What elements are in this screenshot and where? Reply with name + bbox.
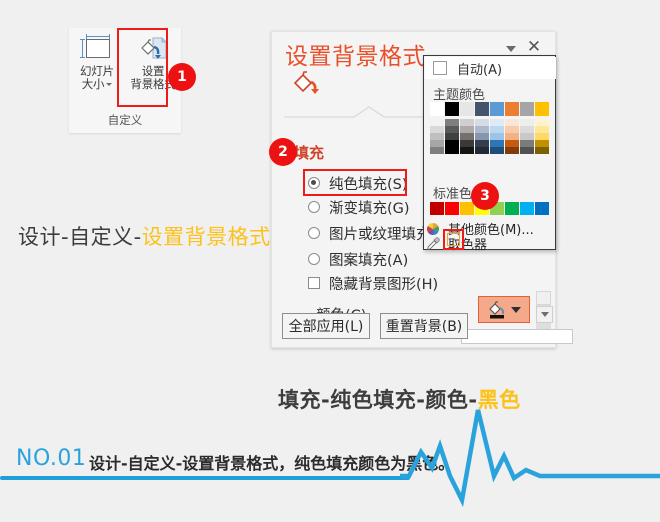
radio-icon[interactable] <box>308 201 320 213</box>
paint-bucket-icon[interactable] <box>292 68 324 98</box>
theme-color-swatch[interactable] <box>490 147 504 154</box>
theme-color-swatch[interactable] <box>460 119 474 126</box>
theme-color-swatch[interactable] <box>520 147 534 154</box>
theme-color-row <box>430 147 551 154</box>
theme-color-swatch[interactable] <box>535 119 549 126</box>
theme-color-row <box>430 102 551 119</box>
theme-color-row <box>430 133 551 140</box>
radio-icon[interactable] <box>308 253 320 265</box>
eyedropper-label: 取色器 <box>448 234 487 253</box>
apply-to-all-button[interactable]: 全部应用(L) <box>282 313 370 339</box>
theme-color-swatch[interactable] <box>445 126 459 133</box>
theme-color-swatch[interactable] <box>460 102 474 116</box>
standard-colors-label: 标准色 <box>433 183 472 202</box>
chevron-down-icon <box>541 312 549 317</box>
theme-color-swatch[interactable] <box>460 140 474 147</box>
fill-section-header: 填充 <box>294 142 324 163</box>
theme-color-swatch[interactable] <box>520 126 534 133</box>
option-hide-background-graphics-label: 隐藏背景图形(H) <box>329 273 438 294</box>
theme-color-swatch[interactable] <box>505 133 519 140</box>
theme-color-row <box>430 126 551 133</box>
theme-color-swatch[interactable] <box>430 140 444 147</box>
theme-color-swatch[interactable] <box>535 133 549 140</box>
option-hide-background-graphics[interactable]: 隐藏背景图形(H) <box>308 272 438 294</box>
theme-color-row <box>430 140 551 147</box>
format-background-icon <box>138 33 168 65</box>
theme-color-swatch[interactable] <box>535 102 549 116</box>
theme-color-swatch[interactable] <box>430 119 444 126</box>
standard-color-swatch[interactable] <box>445 202 459 215</box>
close-icon[interactable]: ✕ <box>525 38 543 56</box>
more-colors-item[interactable]: 其他颜色(M)... <box>425 220 556 236</box>
option-gradient-fill[interactable]: 渐变填充(G) <box>308 196 410 218</box>
step-badge-2: 2 <box>269 138 297 166</box>
theme-color-swatch[interactable] <box>490 133 504 140</box>
standard-color-swatch[interactable] <box>460 202 474 215</box>
ribbon-button-row: 幻灯片 大小 设置 背景格式 <box>69 28 181 108</box>
radio-icon[interactable] <box>308 227 320 239</box>
standard-color-swatch[interactable] <box>505 202 519 215</box>
chevron-down-icon <box>106 83 112 86</box>
chevron-down-icon[interactable] <box>506 46 516 52</box>
eyedropper-icon <box>425 236 441 251</box>
theme-color-swatch[interactable] <box>505 102 519 116</box>
theme-color-swatch[interactable] <box>535 140 549 147</box>
theme-color-swatch[interactable] <box>535 126 549 133</box>
option-pattern-fill-label: 图案填充(A) <box>329 249 408 270</box>
theme-color-swatch[interactable] <box>460 126 474 133</box>
annotation-design-path: 设计-自定义-设置背景格式 <box>18 221 271 251</box>
theme-color-swatch[interactable] <box>460 133 474 140</box>
theme-color-swatch[interactable] <box>520 133 534 140</box>
chevron-down-icon <box>511 307 521 313</box>
step-badge-1: 1 <box>168 63 196 91</box>
theme-color-swatch[interactable] <box>490 140 504 147</box>
theme-color-swatch[interactable] <box>445 147 459 154</box>
theme-color-swatch[interactable] <box>490 102 504 116</box>
pane-scroll-down-button[interactable] <box>536 306 553 323</box>
option-pattern-fill[interactable]: 图案填充(A) <box>308 248 408 270</box>
theme-color-swatch[interactable] <box>505 140 519 147</box>
step-badge-3: 3 <box>471 182 499 210</box>
theme-color-swatch[interactable] <box>505 147 519 154</box>
reset-background-button[interactable]: 重置背景(B) <box>380 313 468 339</box>
slide-canvas: 幻灯片 大小 设置 背景格式 自定义 <box>0 0 660 522</box>
theme-color-swatch[interactable] <box>475 133 489 140</box>
transparency-slider[interactable] <box>461 329 573 344</box>
theme-color-swatch[interactable] <box>445 140 459 147</box>
theme-color-swatch[interactable] <box>445 102 459 116</box>
theme-color-swatch[interactable] <box>490 126 504 133</box>
theme-color-swatch[interactable] <box>520 119 534 126</box>
heartbeat-waveform <box>400 402 660 520</box>
theme-color-swatch[interactable] <box>475 126 489 133</box>
theme-colors-grid[interactable] <box>430 102 551 154</box>
radio-icon[interactable] <box>308 177 320 189</box>
option-gradient-fill-label: 渐变填充(G) <box>329 197 410 218</box>
theme-color-swatch[interactable] <box>460 147 474 154</box>
theme-color-row <box>430 119 551 126</box>
theme-color-swatch[interactable] <box>445 133 459 140</box>
theme-color-swatch[interactable] <box>535 147 549 154</box>
theme-color-swatch[interactable] <box>430 133 444 140</box>
eyedropper-item[interactable]: 取色器 <box>425 236 556 251</box>
automatic-color-item[interactable]: 自动(A) <box>425 57 556 79</box>
color-wheel-icon <box>425 221 441 236</box>
slide-size-icon <box>82 33 112 65</box>
theme-color-swatch[interactable] <box>475 102 489 116</box>
standard-color-swatch[interactable] <box>430 202 444 215</box>
automatic-color-swatch <box>433 61 447 75</box>
theme-color-swatch[interactable] <box>490 119 504 126</box>
banner-number: NO.01 <box>16 446 86 471</box>
theme-color-swatch[interactable] <box>505 126 519 133</box>
slide-size-label-line2: 大小 <box>82 78 113 91</box>
annotation-design-highlight: 设置背景格式 <box>142 225 271 249</box>
option-solid-fill[interactable]: 纯色填充(S) <box>308 172 408 194</box>
theme-color-swatch[interactable] <box>520 140 534 147</box>
theme-color-swatch[interactable] <box>475 140 489 147</box>
paint-bucket-icon <box>488 300 508 320</box>
theme-color-swatch[interactable] <box>430 126 444 133</box>
theme-color-swatch[interactable] <box>430 147 444 154</box>
theme-color-swatch[interactable] <box>520 102 534 116</box>
theme-color-swatch[interactable] <box>505 119 519 126</box>
pane-title: 设置背景格式 <box>285 37 426 71</box>
banner-underline <box>0 476 410 480</box>
theme-colors-label: 主题颜色 <box>433 84 485 103</box>
theme-color-swatch[interactable] <box>475 119 489 126</box>
theme-color-swatch[interactable] <box>430 102 444 116</box>
checkbox-icon[interactable] <box>308 277 320 289</box>
ribbon-customize-group: 幻灯片 大小 设置 背景格式 自定义 <box>69 28 181 133</box>
color-picker-dropdown: 自动(A) 主题颜色 标准色 其他颜色(M)... 取色器 <box>423 55 556 250</box>
option-solid-fill-label: 纯色填充(S) <box>329 173 408 194</box>
theme-color-swatch[interactable] <box>475 147 489 154</box>
slide-size-button[interactable]: 幻灯片 大小 <box>69 28 125 108</box>
standard-color-swatch[interactable] <box>520 202 534 215</box>
color-dropdown-button[interactable] <box>478 296 530 323</box>
annotation-design-prefix: 设计-自定义- <box>18 225 142 249</box>
pane-scrollbar-thumb[interactable] <box>536 291 551 305</box>
ribbon-group-label: 自定义 <box>69 112 181 128</box>
standard-color-swatch[interactable] <box>535 202 549 215</box>
theme-color-swatch[interactable] <box>445 119 459 126</box>
automatic-color-label: 自动(A) <box>457 59 502 78</box>
